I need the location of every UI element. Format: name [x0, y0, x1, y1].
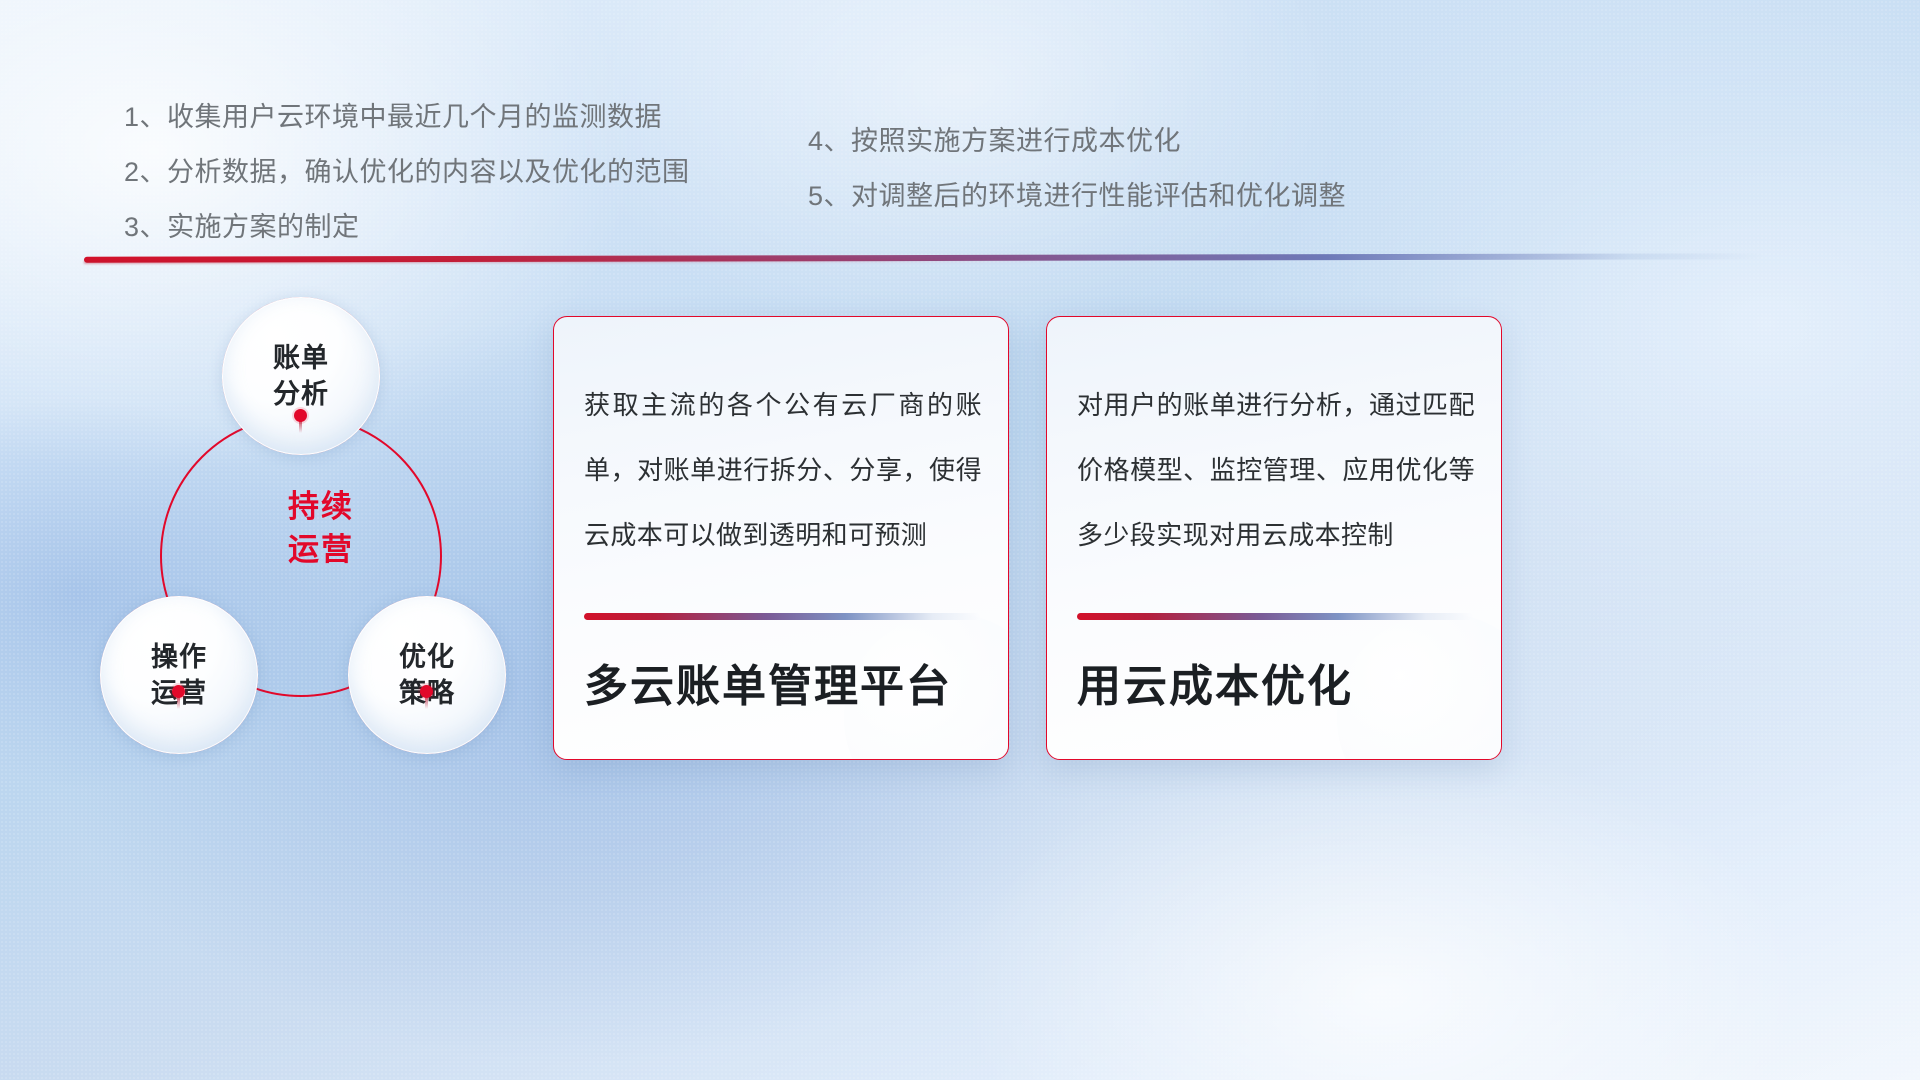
step-item-3: 3、实施方案的制定	[124, 207, 690, 247]
step-item-1: 1、收集用户云环境中最近几个月的监测数据	[124, 97, 690, 137]
connector-dot-right	[420, 685, 433, 698]
card-multi-cloud-billing-platform[interactable]: 获取主流的各个公有云厂商的账单，对账单进行拆分、分享，使得云成本可以做到透明和可…	[553, 316, 1009, 760]
card-cloud-cost-optimization[interactable]: 对用户的账单进行分析，通过匹配价格模型、监控管理、应用优化等多少段实现对用云成本…	[1046, 316, 1502, 760]
card-body-text: 对用户的账单进行分析，通过匹配价格模型、监控管理、应用优化等多少段实现对用云成本…	[1077, 373, 1475, 568]
card-accent-rule	[584, 613, 980, 620]
venn-node-label-line1: 优化	[399, 639, 455, 675]
venn-node-label-line2: 分析	[273, 376, 329, 412]
step-item-4: 4、按照实施方案进行成本优化	[808, 121, 1346, 161]
venn-node-operations[interactable]: 操作 运营	[100, 596, 258, 754]
step-item-5: 5、对调整后的环境进行性能评估和优化调整	[808, 176, 1346, 216]
venn-node-optimization[interactable]: 优化 策略	[348, 596, 506, 754]
card-body-text: 获取主流的各个公有云厂商的账单，对账单进行拆分、分享，使得云成本可以做到透明和可…	[584, 373, 982, 568]
venn-center-label-line2: 运营	[256, 528, 386, 571]
venn-node-label-line1: 账单	[273, 340, 329, 376]
venn-node-label-line1: 操作	[151, 639, 207, 675]
card-accent-rule	[1077, 613, 1473, 620]
venn-center-label: 持续 运营	[256, 485, 386, 571]
connector-dot-top	[294, 409, 307, 422]
card-title: 多云账单管理平台	[584, 657, 982, 717]
steps-left-column: 1、收集用户云环境中最近几个月的监测数据 2、分析数据，确认优化的内容以及优化的…	[124, 97, 690, 262]
venn-node-billing-analysis-label: 账单 分析	[273, 340, 329, 412]
card-title: 用云成本优化	[1077, 657, 1475, 717]
steps-right-column: 4、按照实施方案进行成本优化 5、对调整后的环境进行性能评估和优化调整	[808, 121, 1346, 231]
continuous-operation-venn-diagram: 持续 运营 账单 分析 操作 运营 优化 策略	[80, 285, 550, 775]
venn-center-label-line1: 持续	[256, 485, 386, 528]
step-item-2: 2、分析数据，确认优化的内容以及优化的范围	[124, 152, 690, 192]
connector-dot-left	[172, 685, 185, 698]
slide-stage: 1、收集用户云环境中最近几个月的监测数据 2、分析数据，确认优化的内容以及优化的…	[0, 0, 1920, 1080]
